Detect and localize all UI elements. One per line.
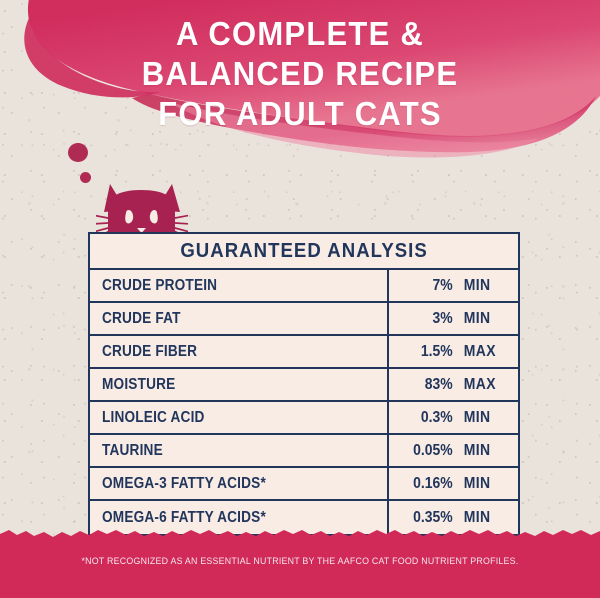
nutrient-cell: TAURINE (90, 435, 389, 466)
nutrient-label: CRUDE PROTEIN (102, 277, 217, 295)
amount-value: 0.3% (411, 409, 452, 427)
qualifier-label: MIN (464, 409, 496, 427)
table-row: OMEGA-6 FATTY ACIDS*0.35%MIN (90, 501, 518, 534)
value-cell: 0.05%MIN (389, 435, 518, 466)
thought-bubble-dot-icon (68, 143, 88, 162)
value-cell: 0.3%MIN (389, 402, 518, 433)
qualifier-label: MAX (464, 376, 496, 394)
table-row: CRUDE PROTEIN7%MIN (90, 270, 518, 303)
value-cell: 3%MIN (389, 303, 518, 334)
value-cell: 0.35%MIN (389, 501, 518, 534)
qualifier-label: MIN (464, 277, 496, 295)
qualifier-label: MAX (464, 343, 496, 361)
table-header: GUARANTEED ANALYSIS (90, 234, 518, 270)
nutrient-label: OMEGA-6 FATTY ACIDS* (102, 509, 266, 527)
qualifier-label: MIN (464, 475, 496, 493)
nutrient-label: TAURINE (102, 442, 163, 460)
guaranteed-analysis-poster: A COMPLETE & BALANCED RECIPE FOR ADULT C… (0, 0, 600, 598)
amount-value: 1.5% (411, 343, 452, 361)
footnote-text: *NOT RECOGNIZED AS AN ESSENTIAL NUTRIENT… (12, 556, 588, 566)
amount-value: 0.16% (411, 475, 452, 493)
nutrient-label: CRUDE FIBER (102, 343, 197, 361)
value-cell: 7%MIN (389, 270, 518, 301)
qualifier-label: MIN (464, 310, 496, 328)
pink-watercolor-blob (0, 0, 600, 214)
nutrient-label: LINOLEIC ACID (102, 409, 205, 427)
amount-value: 0.35% (411, 509, 452, 527)
value-cell: 0.16%MIN (389, 468, 518, 499)
value-cell: 1.5%MAX (389, 336, 518, 367)
table-body: CRUDE PROTEIN7%MINCRUDE FAT3%MINCRUDE FI… (90, 270, 518, 534)
guaranteed-analysis-table: GUARANTEED ANALYSIS CRUDE PROTEIN7%MINCR… (88, 232, 520, 536)
page-title: A COMPLETE & BALANCED RECIPE FOR ADULT C… (0, 14, 600, 134)
nutrient-cell: CRUDE PROTEIN (90, 270, 389, 301)
amount-value: 7% (411, 277, 452, 295)
headline-line-1: A COMPLETE & (18, 14, 582, 54)
headline-line-3: FOR ADULT CATS (18, 94, 582, 134)
headline-line-2: BALANCED RECIPE (18, 54, 582, 94)
table-title: GUARANTEED ANALYSIS (180, 240, 427, 263)
thought-bubble-dot-icon (80, 172, 91, 183)
nutrient-cell: CRUDE FIBER (90, 336, 389, 367)
nutrient-label: MOISTURE (102, 376, 175, 394)
value-cell: 83%MAX (389, 369, 518, 400)
nutrient-cell: OMEGA-3 FATTY ACIDS* (90, 468, 389, 499)
table-row: MOISTURE83%MAX (90, 369, 518, 402)
nutrient-label: OMEGA-3 FATTY ACIDS* (102, 475, 266, 493)
table-row: OMEGA-3 FATTY ACIDS*0.16%MIN (90, 468, 518, 501)
amount-value: 0.05% (411, 442, 452, 460)
table-row: LINOLEIC ACID0.3%MIN (90, 402, 518, 435)
nutrient-cell: LINOLEIC ACID (90, 402, 389, 433)
nutrient-label: CRUDE FAT (102, 310, 181, 328)
nutrient-cell: MOISTURE (90, 369, 389, 400)
amount-value: 3% (411, 310, 452, 328)
nutrient-cell: OMEGA-6 FATTY ACIDS* (90, 501, 389, 534)
table-row: TAURINE0.05%MIN (90, 435, 518, 468)
nutrient-cell: CRUDE FAT (90, 303, 389, 334)
table-row: CRUDE FIBER1.5%MAX (90, 336, 518, 369)
qualifier-label: MIN (464, 509, 496, 527)
table-row: CRUDE FAT3%MIN (90, 303, 518, 336)
amount-value: 83% (411, 376, 452, 394)
qualifier-label: MIN (464, 442, 496, 460)
